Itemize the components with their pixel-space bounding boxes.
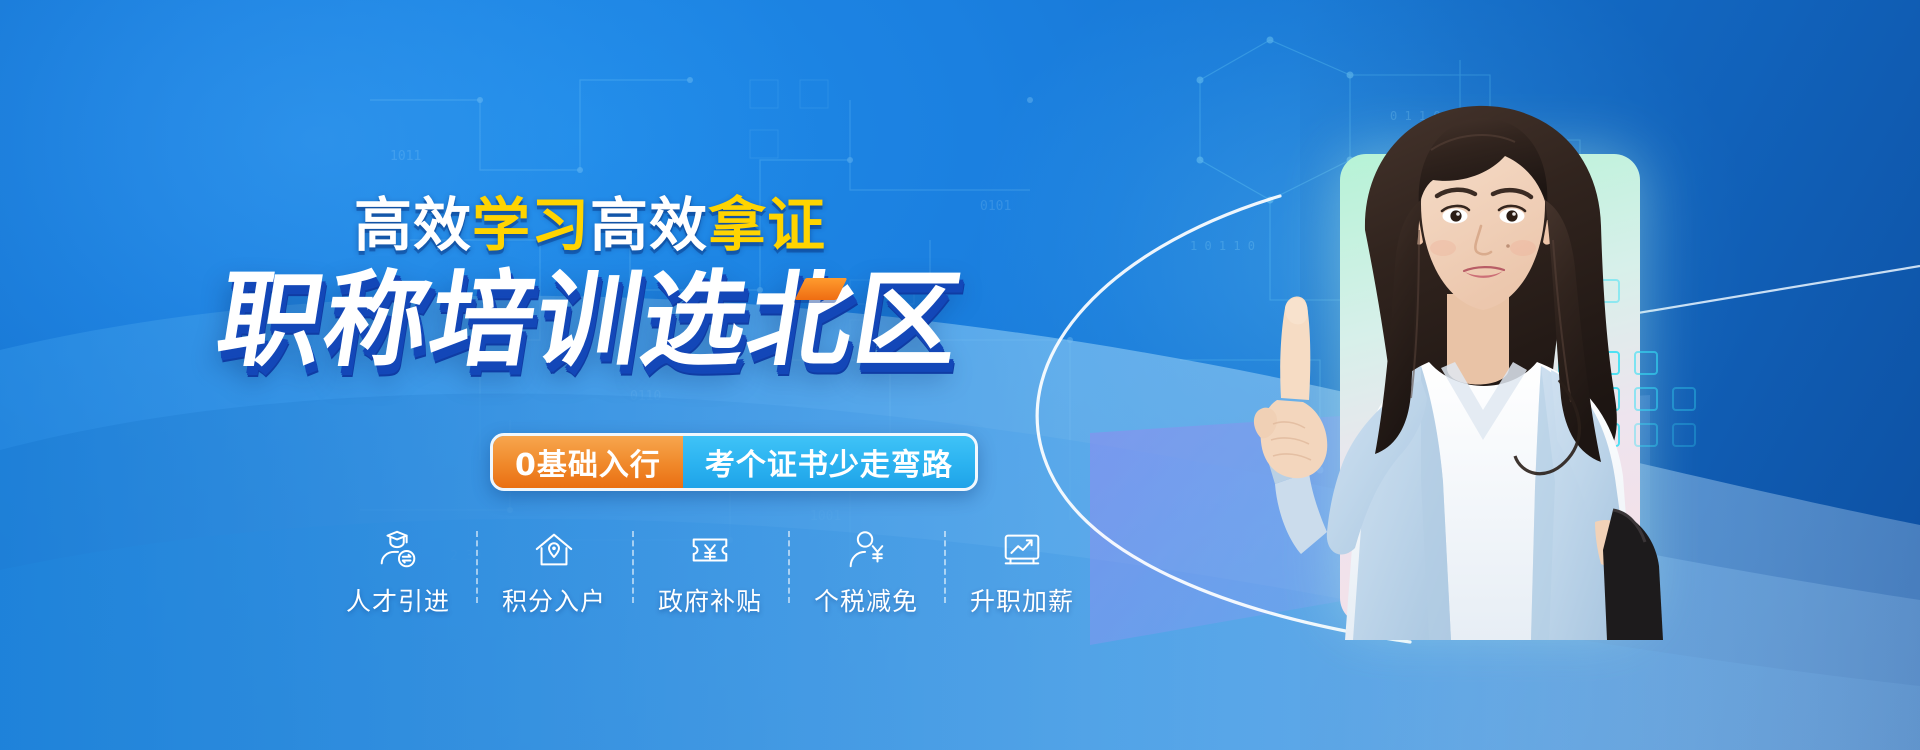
headline-sub-seg-2: 学习 [472, 191, 590, 259]
feature-item-talent[interactable]: 人才引进 [320, 527, 476, 618]
headline-subtitle: 高效学习高效拿证 [0, 196, 1180, 254]
tagline-pill: 0基础入行 考个证书少走弯路 [490, 433, 978, 491]
feature-item-promotion[interactable]: 升职加薪 [944, 527, 1100, 618]
feature-row: 人才引进 积分入户 [320, 527, 1100, 627]
feature-label-tax: 个税减免 [814, 582, 918, 618]
person-yuan-icon [843, 527, 889, 573]
feature-item-subsidy[interactable]: 政府补贴 [632, 527, 788, 618]
pill-right-label: 考个证书少走弯路 [683, 436, 975, 488]
graduate-person-icon [375, 527, 421, 573]
headline-main: 职称培训选北区 [0, 268, 1188, 372]
feature-item-residency[interactable]: 积分入户 [476, 527, 632, 618]
feature-label-promotion: 升职加薪 [970, 582, 1074, 618]
feature-item-tax[interactable]: 个税减免 [788, 527, 944, 618]
house-pin-icon [531, 527, 577, 573]
subject-photo-group [1215, 80, 1755, 640]
headline-sub-seg-4: 拿证 [708, 191, 826, 259]
feature-label-talent: 人才引进 [346, 582, 450, 618]
promo-banner: 10110110 10010101 2 39 1 0 1 1 00 1 1 0 [0, 0, 1920, 750]
banner-content: 高效学习高效拿证 职称培训选北区 0基础入行 考个证书少走弯路 [0, 0, 1215, 750]
pointing-woman-photo [1215, 80, 1755, 640]
pill-left-label: 0基础入行 [493, 436, 683, 488]
feature-label-subsidy: 政府补贴 [658, 582, 762, 618]
ticket-yuan-icon [687, 527, 733, 573]
headline-sub-seg-1: 高效 [354, 191, 472, 259]
headline-sub-seg-3: 高效 [590, 191, 708, 259]
growth-chart-icon [999, 527, 1045, 573]
feature-label-residency: 积分入户 [502, 582, 606, 618]
